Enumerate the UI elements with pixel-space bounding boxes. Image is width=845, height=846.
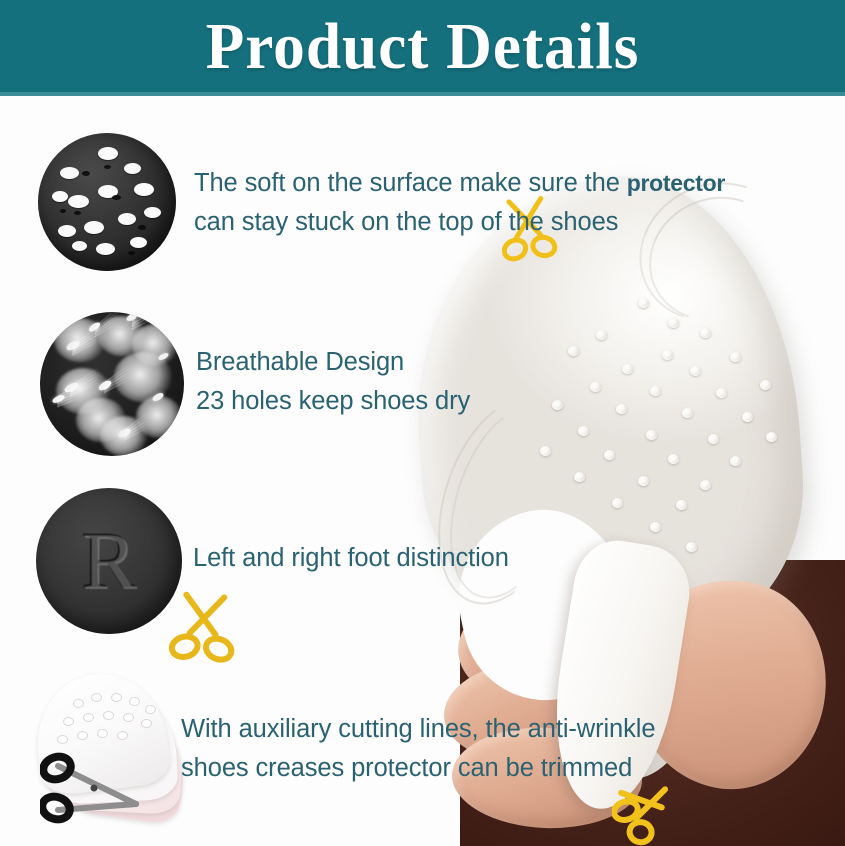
perforation-hole <box>540 446 551 456</box>
feature-text-trimmable: With auxiliary cutting lines, the anti-w… <box>181 710 655 788</box>
feature-line-1: Left and right foot distinction <box>193 544 509 572</box>
perforation-hole <box>682 408 693 418</box>
product-details-page: Product Details R <box>0 0 845 846</box>
letter-r-emboss: R <box>36 488 182 634</box>
header-banner-underline <box>0 92 845 96</box>
page-title: Product Details <box>17 4 828 90</box>
perforation-hole <box>144 207 161 218</box>
sheet-perforation-hole <box>74 700 83 707</box>
surface-dimple <box>112 195 121 200</box>
feature-text-soft-surface: The soft on the surface make sure the pr… <box>194 164 725 242</box>
perforation-hole <box>604 450 615 460</box>
breathable-fiber-thumbnail <box>40 312 184 456</box>
perforation-hole <box>668 454 679 464</box>
perforation-hole <box>58 225 76 237</box>
perforation-hole <box>68 195 89 208</box>
perforation-hole <box>574 472 585 482</box>
feature-line-2: shoes creases protector can be trimmed <box>181 754 632 782</box>
scissors-icon <box>167 590 238 668</box>
feature-line-1: With auxiliary cutting lines, the anti-w… <box>181 715 655 743</box>
feature-text-breathable: Breathable Design 23 holes keep shoes dr… <box>196 343 470 421</box>
sheet-perforation-hole <box>64 718 73 725</box>
sheet-perforation-hole <box>146 706 155 713</box>
sheet-perforation-hole <box>92 694 101 701</box>
perforation-hole <box>730 352 741 362</box>
perforation-hole <box>622 364 633 374</box>
feature-text-left-right: Left and right foot distinction <box>193 539 509 578</box>
sheet-perforation-hole <box>124 714 133 721</box>
sheet-perforation-hole <box>112 694 121 701</box>
cutting-sheet-scissors-thumbnail <box>28 670 198 830</box>
feature-line-2: 23 holes keep shoes dry <box>196 387 470 415</box>
perforation-hole <box>650 386 661 396</box>
perforated-disc-thumbnail <box>38 133 176 271</box>
perforation-hole <box>596 330 607 340</box>
perforation-hole <box>690 366 701 376</box>
perforation-hole <box>676 500 687 510</box>
sheet-perforation-hole <box>58 736 67 743</box>
perforation-hole <box>568 346 579 356</box>
perforation-hole <box>134 183 154 196</box>
perforation-hole <box>638 298 649 308</box>
perforation-hole <box>650 522 661 532</box>
sheet-perforation-hole <box>104 712 113 719</box>
perforation-hole <box>552 400 563 410</box>
perforation-hole <box>52 191 68 202</box>
sheet-perforation-hole <box>118 732 127 739</box>
feature-line-1: Breathable Design <box>196 348 404 376</box>
perforation-hole <box>668 318 679 328</box>
perforation-hole <box>708 434 719 444</box>
perforation-hole <box>130 237 147 248</box>
feature-line-1-bold: protector <box>627 170 725 196</box>
perforation-hole <box>716 388 727 398</box>
sheet-perforation-hole <box>84 714 93 721</box>
perforation-hole <box>60 167 79 179</box>
perforation-hole <box>124 163 141 174</box>
sheet-perforation-hole <box>78 732 87 739</box>
sheet-perforation-hole <box>142 720 151 727</box>
scissors-icon <box>611 783 679 846</box>
perforation-hole <box>646 430 657 440</box>
feature-line-2: can stay stuck on the top of the shoes <box>194 208 618 236</box>
perforation-hole <box>638 476 649 486</box>
perforation-hole <box>730 456 741 466</box>
sheet-perforation-hole <box>130 698 139 705</box>
feature-line-1: The soft on the surface make sure the <box>194 169 627 197</box>
perforation-hole <box>612 498 623 508</box>
perforation-hole <box>84 221 104 234</box>
perforation-hole <box>686 542 697 552</box>
perforation-hole <box>760 380 771 390</box>
perforation-hole <box>616 404 627 414</box>
perforation-hole <box>72 241 87 251</box>
perforation-hole <box>766 432 777 442</box>
r-marking-thumbnail: R <box>36 488 182 634</box>
surface-dimple <box>74 211 81 215</box>
surface-dimple <box>60 209 66 213</box>
perforation-hole <box>98 147 118 160</box>
surface-dimple <box>82 171 90 176</box>
perforation-hole <box>96 243 115 255</box>
perforation-hole <box>662 350 673 360</box>
perforation-hole <box>590 382 601 392</box>
perforation-hole <box>700 328 711 338</box>
perforation-hole <box>742 412 753 422</box>
perforation-hole <box>578 426 589 436</box>
sheet-perforation-hole <box>98 730 107 737</box>
surface-dimple <box>104 165 111 169</box>
surface-dimple <box>128 251 135 255</box>
surface-dimple <box>138 225 146 230</box>
black-scissors-icon <box>40 752 150 824</box>
perforation-hole <box>118 213 136 225</box>
perforation-hole <box>700 480 711 490</box>
